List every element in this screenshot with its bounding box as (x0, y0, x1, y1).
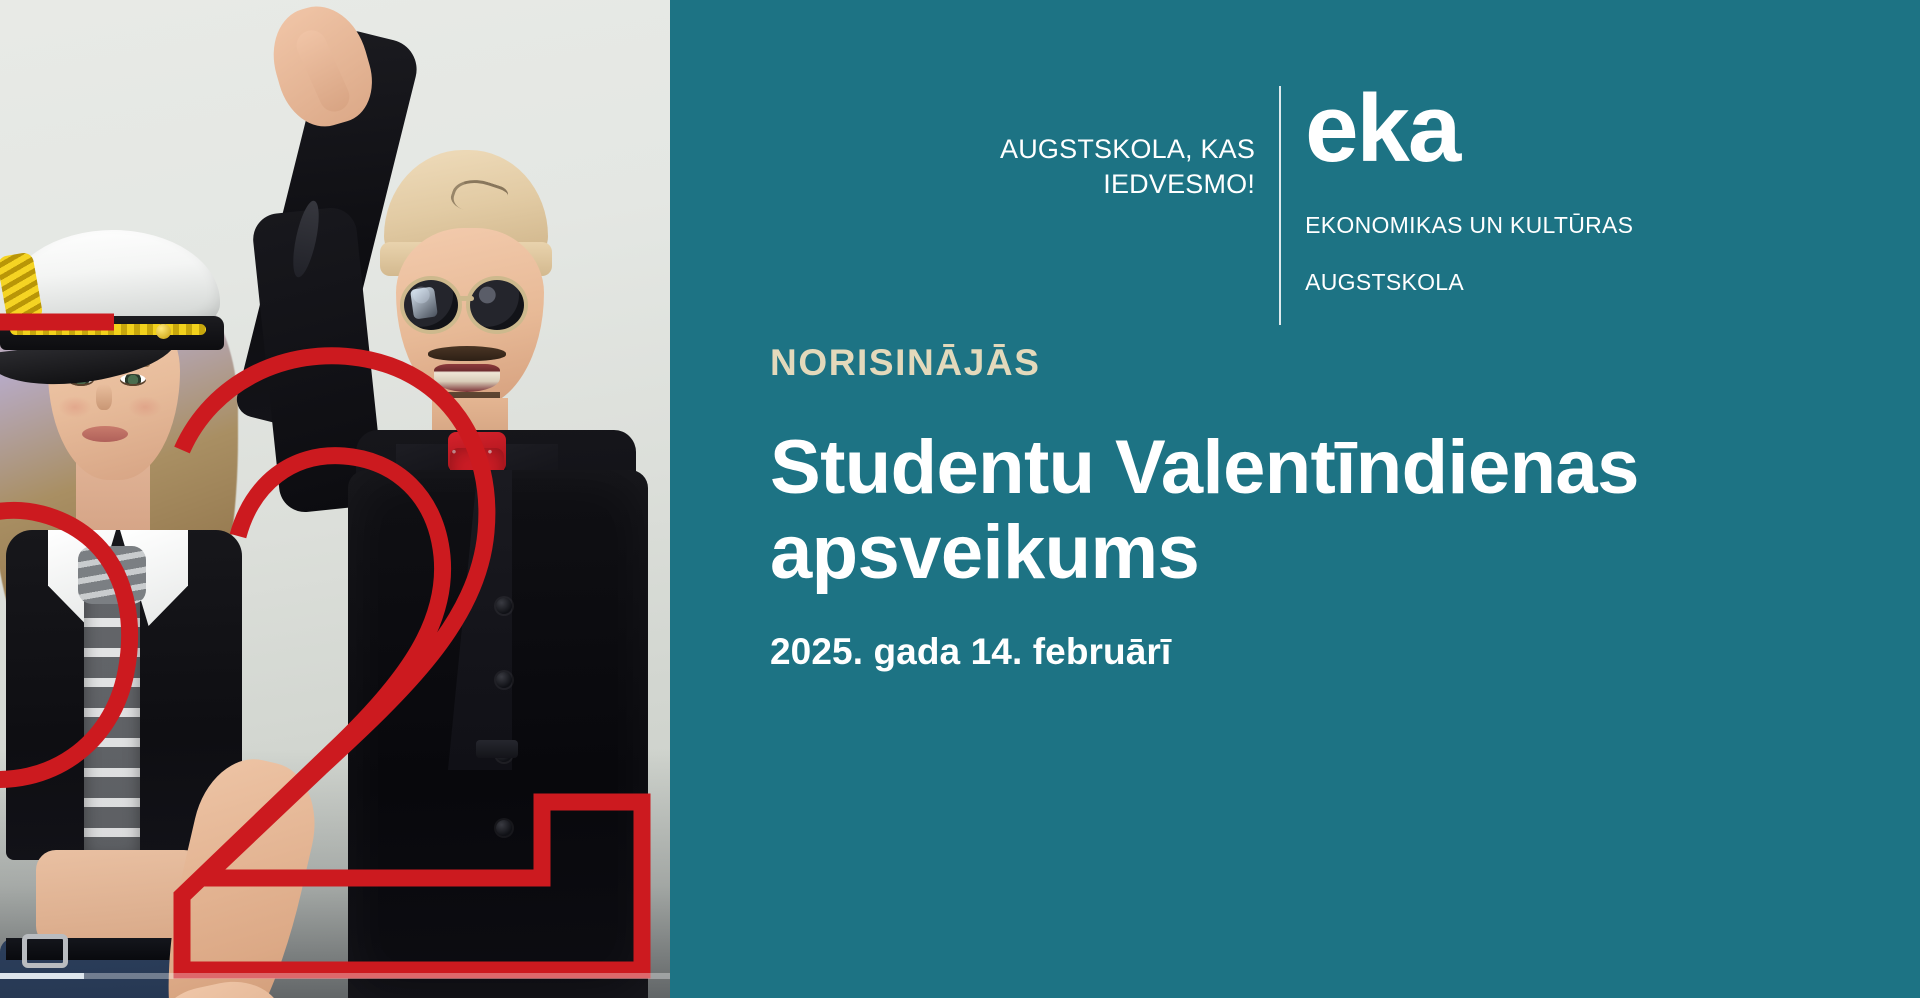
captain-hat-button (156, 324, 171, 339)
logo-tagline: AUGSTSKOLA, KAS IEDVESMO! (1000, 86, 1279, 201)
logo-tagline-line-2: IEDVESMO! (1000, 167, 1255, 202)
eka-wordmark: eka (1305, 86, 1633, 172)
event-headline-block: NORISINĀJĀS Studentu Valentīndienas apsv… (770, 344, 1750, 670)
logo-subtitle-line-2: AUGSTSKOLA (1305, 268, 1633, 297)
woman-blush-left (58, 396, 92, 418)
video-scrubber-progress[interactable] (0, 973, 84, 979)
woman-belt-buckle (22, 934, 68, 968)
man-vest-pocket (476, 740, 518, 758)
aviator-sunglasses-right-lens (466, 276, 528, 334)
person-man-sunglasses (300, 0, 670, 998)
eka-logo-lockup[interactable]: AUGSTSKOLA, KAS IEDVESMO! eka EKONOMIKAS… (1000, 86, 1633, 325)
content-panel: AUGSTSKOLA, KAS IEDVESMO! eka EKONOMIKAS… (670, 0, 1920, 998)
woman-tie-knot (78, 546, 146, 604)
man-vest-button-4 (496, 820, 512, 836)
event-banner: AUGSTSKOLA, KAS IEDVESMO! eka EKONOMIKAS… (0, 0, 1920, 998)
logo-tagline-line-1: AUGSTSKOLA, KAS (1000, 132, 1255, 167)
captain-hat-cord (10, 324, 206, 335)
woman-nose (96, 384, 112, 410)
event-title: Studentu Valentīndienas apsveikums (770, 425, 1750, 595)
man-moustache (428, 346, 506, 361)
video-scrubber-track[interactable] (0, 973, 670, 979)
sunglasses-reflection (410, 286, 438, 319)
man-vest-button-1 (496, 598, 512, 614)
event-status-kicker: NORISINĀJĀS (770, 344, 1750, 381)
logo-right-group: eka EKONOMIKAS UN KULTŪRAS AUGSTSKOLA (1281, 86, 1633, 325)
man-vest-button-2 (496, 672, 512, 688)
man-mouth (434, 364, 500, 392)
aviator-sunglasses-bridge (458, 296, 474, 301)
woman-blush-right (128, 396, 162, 418)
video-player[interactable] (0, 0, 670, 998)
woman-lips (82, 426, 128, 442)
event-date: 2025. gada 14. februārī (770, 633, 1750, 670)
woman-eye-right (120, 374, 146, 386)
logo-subtitle: EKONOMIKAS UN KULTŪRAS AUGSTSKOLA (1305, 182, 1633, 325)
logo-subtitle-line-1: EKONOMIKAS UN KULTŪRAS (1305, 211, 1633, 240)
